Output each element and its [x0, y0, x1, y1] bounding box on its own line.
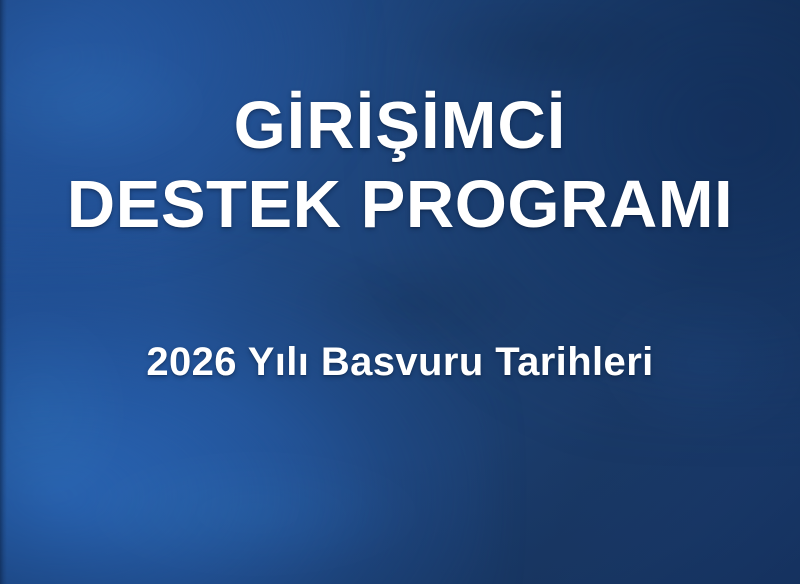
promo-banner: GİRİŞİMCİ DESTEK PROGRAMI 2026 Yılı Basv… — [0, 0, 800, 584]
banner-subtitle: 2026 Yılı Basvuru Tarihleri — [0, 340, 800, 384]
banner-title-line-2: DESTEK PROGRAMI — [0, 171, 800, 238]
banner-content: GİRİŞİMCİ DESTEK PROGRAMI 2026 Yılı Basv… — [0, 0, 800, 584]
banner-title-line-1: GİRİŞİMCİ — [0, 92, 800, 159]
banner-title: GİRİŞİMCİ DESTEK PROGRAMI — [0, 92, 800, 238]
